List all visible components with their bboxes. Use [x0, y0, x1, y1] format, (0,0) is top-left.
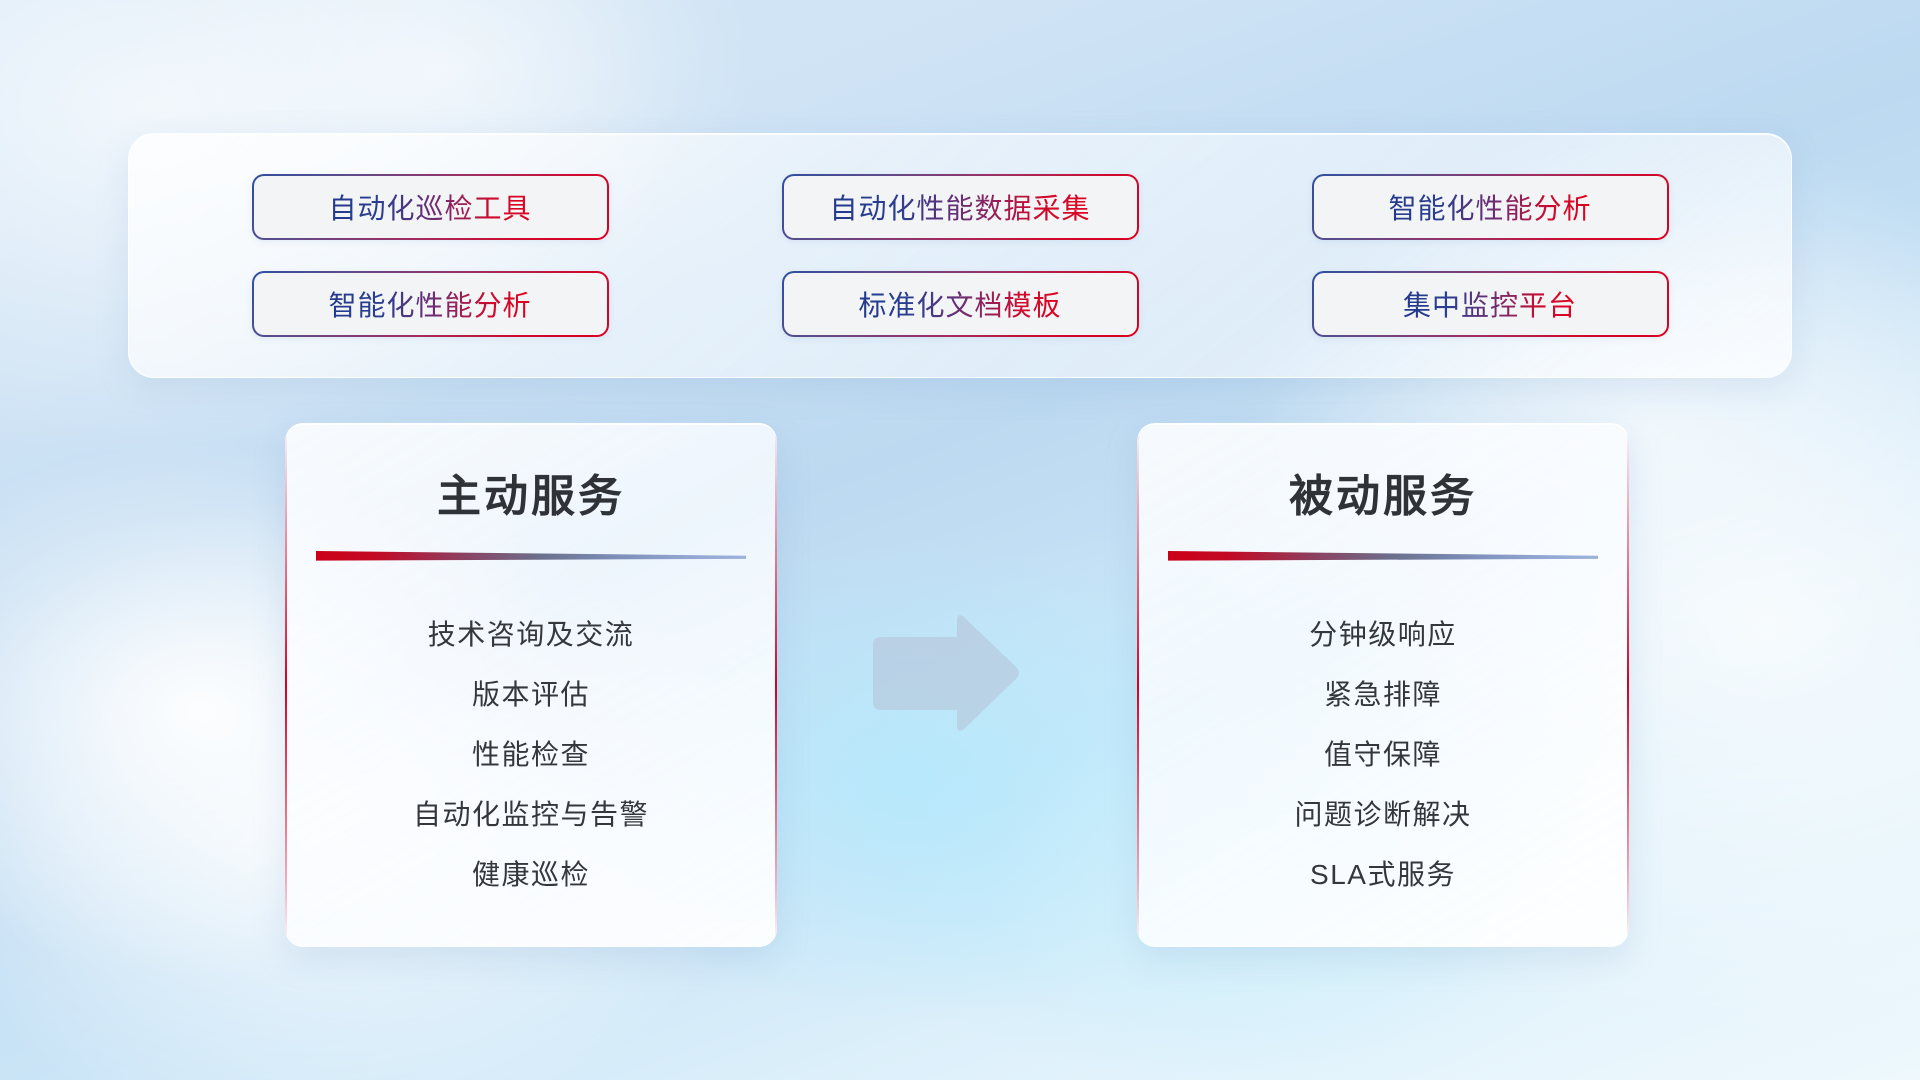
capability-tag-6-face: 集中监控平台 — [1314, 273, 1667, 335]
active-service-list: 技术咨询及交流 版本评估 性能检查 自动化监控与告警 健康巡检 — [285, 563, 777, 905]
capability-tag-4-face: 智能化性能分析 — [254, 273, 607, 335]
capability-tag-4[interactable]: 智能化性能分析 — [252, 271, 609, 337]
list-item: 性能检查 — [285, 725, 777, 785]
capability-tag-1[interactable]: 自动化巡检工具 — [252, 174, 609, 240]
capability-tag-3-face: 智能化性能分析 — [1314, 176, 1667, 238]
passive-service-list: 分钟级响应 紧急排障 值守保障 问题诊断解决 SLA式服务 — [1137, 563, 1629, 905]
capability-tags-panel: 自动化巡检工具 自动化性能数据采集 智能化性能分析 智能化性能分析 标准化文档模… — [128, 133, 1792, 378]
list-item: SLA式服务 — [1137, 845, 1629, 905]
passive-service-title: 被动服务 — [1137, 424, 1629, 524]
capability-tag-3[interactable]: 智能化性能分析 — [1312, 174, 1669, 240]
list-item: 紧急排障 — [1137, 665, 1629, 725]
right-arrow-icon — [869, 611, 1021, 736]
capability-tag-2-face: 自动化性能数据采集 — [784, 176, 1137, 238]
list-item: 问题诊断解决 — [1137, 785, 1629, 845]
list-item: 值守保障 — [1137, 725, 1629, 785]
capability-tag-1-label: 自动化巡检工具 — [328, 187, 531, 227]
slide-canvas: 自动化巡检工具 自动化性能数据采集 智能化性能分析 智能化性能分析 标准化文档模… — [0, 0, 1920, 1080]
capability-tag-2-label: 自动化性能数据采集 — [829, 187, 1090, 227]
list-item: 分钟级响应 — [1137, 605, 1629, 665]
active-service-title: 主动服务 — [285, 424, 777, 524]
capability-tag-6-label: 集中监控平台 — [1403, 284, 1577, 324]
list-item: 技术咨询及交流 — [285, 605, 777, 665]
list-item: 健康巡检 — [285, 845, 777, 905]
capability-tag-6[interactable]: 集中监控平台 — [1312, 271, 1669, 337]
active-service-divider — [316, 550, 746, 563]
capability-tag-5[interactable]: 标准化文档模板 — [782, 271, 1139, 337]
list-item: 版本评估 — [285, 665, 777, 725]
active-service-card[interactable]: 主动服务 技术咨询及交流 版本评估 性能检查 自动化监控与告警 健康巡检 — [285, 423, 777, 947]
capability-tag-5-face: 标准化文档模板 — [784, 273, 1137, 335]
list-item: 自动化监控与告警 — [285, 785, 777, 845]
passive-service-divider — [1168, 550, 1598, 563]
capability-tag-2[interactable]: 自动化性能数据采集 — [782, 174, 1139, 240]
capability-tag-5-label: 标准化文档模板 — [858, 284, 1061, 324]
passive-service-card[interactable]: 被动服务 分钟级响应 紧急排障 值守保障 问题诊断解决 SLA式服务 — [1137, 423, 1629, 947]
capability-tag-3-label: 智能化性能分析 — [1388, 187, 1591, 227]
capability-tag-1-face: 自动化巡检工具 — [254, 176, 607, 238]
capability-tag-4-label: 智能化性能分析 — [328, 284, 531, 324]
